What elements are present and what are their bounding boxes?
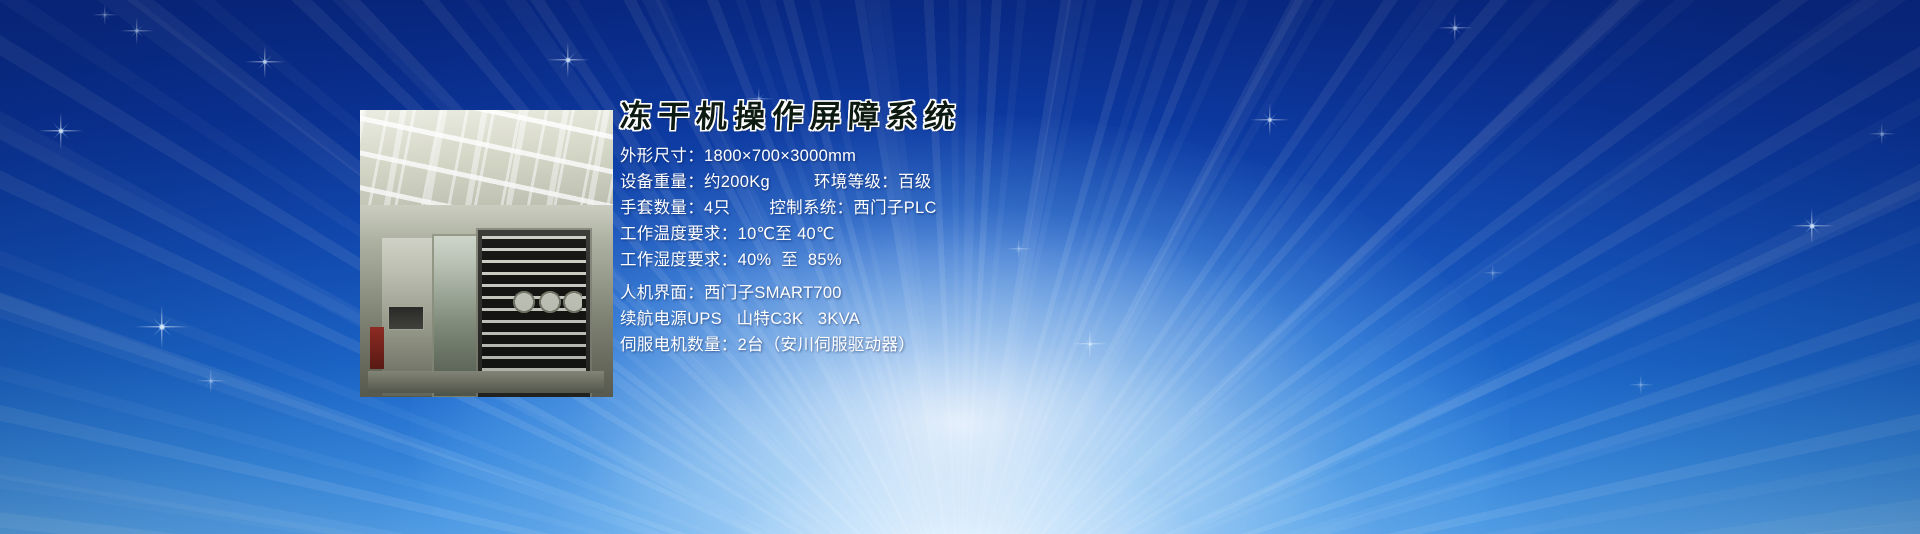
spec-line: 手套数量：4只 控制系统：西门子PLC <box>620 195 1040 221</box>
sparkle-star <box>135 300 189 354</box>
spec-line: 工作湿度要求：40% 至 85% <box>620 247 1040 273</box>
spec-line: 设备重量：约200Kg 环境等级：百级 <box>620 169 1040 195</box>
product-banner: 冻干机操作屏障系统 外形尺寸：1800×700×3000mm设备重量：约200K… <box>0 0 1920 534</box>
sparkle-star <box>1250 100 1290 140</box>
sparkle-star <box>245 42 285 82</box>
sparkle-star <box>1072 326 1108 362</box>
product-photo <box>360 110 613 397</box>
sparkle-star <box>1868 120 1896 148</box>
spec-line: 伺服电机数量：2台（安川伺服驱动器） <box>620 332 1040 358</box>
sparkle-star <box>92 2 118 28</box>
sparkle-star <box>546 38 590 82</box>
sparkle-star <box>38 108 84 154</box>
sparkle-star <box>1628 372 1654 398</box>
page-title: 冻干机操作屏障系统 <box>619 100 1041 134</box>
sparkle-star <box>120 14 154 48</box>
sparkle-star <box>196 366 226 396</box>
specification-list: 外形尺寸：1800×700×3000mm设备重量：约200Kg 环境等级：百级手… <box>620 143 1040 358</box>
photo-shading <box>360 110 613 397</box>
spec-line: 外形尺寸：1800×700×3000mm <box>620 143 1040 169</box>
spec-line: 人机界面：西门子SMART700 <box>620 280 1040 306</box>
spec-line: 续航电源UPS 山特C3K 3KVA <box>620 306 1040 332</box>
sparkle-star <box>1790 204 1834 248</box>
sparkle-star <box>1482 262 1504 284</box>
spec-line: 工作温度要求：10℃至 40℃ <box>620 221 1040 247</box>
text-content: 冻干机操作屏障系统 外形尺寸：1800×700×3000mm设备重量：约200K… <box>620 100 1040 358</box>
sparkle-star <box>1437 10 1473 46</box>
